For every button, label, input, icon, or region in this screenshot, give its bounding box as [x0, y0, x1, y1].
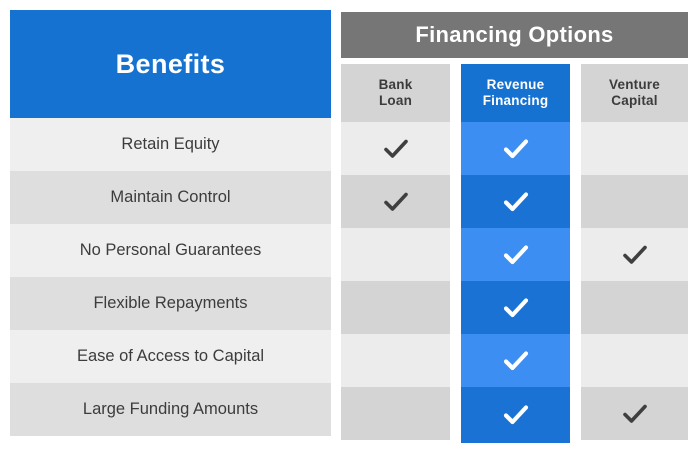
check-icon: [501, 293, 531, 323]
check-icon: [501, 400, 531, 430]
benefit-row: Ease of Access to Capital: [10, 330, 331, 383]
check-icon: [501, 134, 531, 164]
benefit-row: Large Funding Amounts: [10, 383, 331, 436]
financing-options-header: Financing Options: [341, 12, 688, 58]
check-icon: [501, 240, 531, 270]
benefit-label: Flexible Repayments: [93, 294, 247, 313]
matrix-cell: [341, 334, 450, 387]
column-header-line2: Capital: [609, 93, 660, 109]
matrix-cell: [581, 228, 688, 281]
matrix-cell: [581, 387, 688, 440]
benefit-row: Maintain Control: [10, 171, 331, 224]
benefit-label: Retain Equity: [121, 135, 219, 154]
benefits-column: Benefits Retain Equity Maintain Control …: [10, 10, 331, 443]
benefit-label: Ease of Access to Capital: [77, 347, 264, 366]
column-header-revenue-financing[interactable]: Revenue Financing: [461, 64, 570, 122]
benefit-row: Retain Equity: [10, 118, 331, 171]
check-icon: [620, 399, 650, 429]
column-header-line1: Revenue: [483, 77, 549, 93]
check-icon: [501, 187, 531, 217]
column-bank-loan: Bank Loan: [341, 64, 450, 440]
matrix-cell: [461, 122, 570, 175]
benefit-label: No Personal Guarantees: [80, 241, 262, 260]
matrix-cell: [581, 175, 688, 228]
check-icon: [381, 134, 411, 164]
matrix-cell: [461, 281, 570, 334]
matrix-cell: [341, 175, 450, 228]
matrix-cell: [581, 281, 688, 334]
benefits-header: Benefits: [10, 10, 331, 118]
matrix-cell: [461, 334, 570, 387]
check-icon: [501, 346, 531, 376]
matrix-cell: [341, 387, 450, 440]
benefits-header-label: Benefits: [116, 49, 226, 80]
matrix-cell: [461, 228, 570, 281]
column-header-line2: Loan: [379, 93, 413, 109]
benefit-row: No Personal Guarantees: [10, 224, 331, 277]
matrix-cell: [341, 281, 450, 334]
matrix-cell: [341, 228, 450, 281]
check-icon: [381, 187, 411, 217]
financing-options-header-label: Financing Options: [415, 22, 613, 48]
matrix-cell: [581, 334, 688, 387]
column-header-line2: Financing: [483, 93, 549, 109]
matrix-cell: [581, 122, 688, 175]
matrix-cell: [341, 122, 450, 175]
column-header-venture-capital[interactable]: Venture Capital: [581, 64, 688, 122]
column-venture-capital: Venture Capital: [581, 64, 688, 440]
benefit-row: Flexible Repayments: [10, 277, 331, 330]
column-header-bank-loan[interactable]: Bank Loan: [341, 64, 450, 122]
check-icon: [620, 240, 650, 270]
matrix-cell: [461, 387, 570, 443]
benefit-label: Maintain Control: [110, 188, 230, 207]
benefit-label: Large Funding Amounts: [83, 400, 258, 419]
column-header-line1: Bank: [379, 77, 413, 93]
column-revenue-financing: Revenue Financing: [461, 64, 570, 443]
matrix-cell: [461, 175, 570, 228]
comparison-table: Benefits Retain Equity Maintain Control …: [0, 0, 700, 453]
column-header-line1: Venture: [609, 77, 660, 93]
